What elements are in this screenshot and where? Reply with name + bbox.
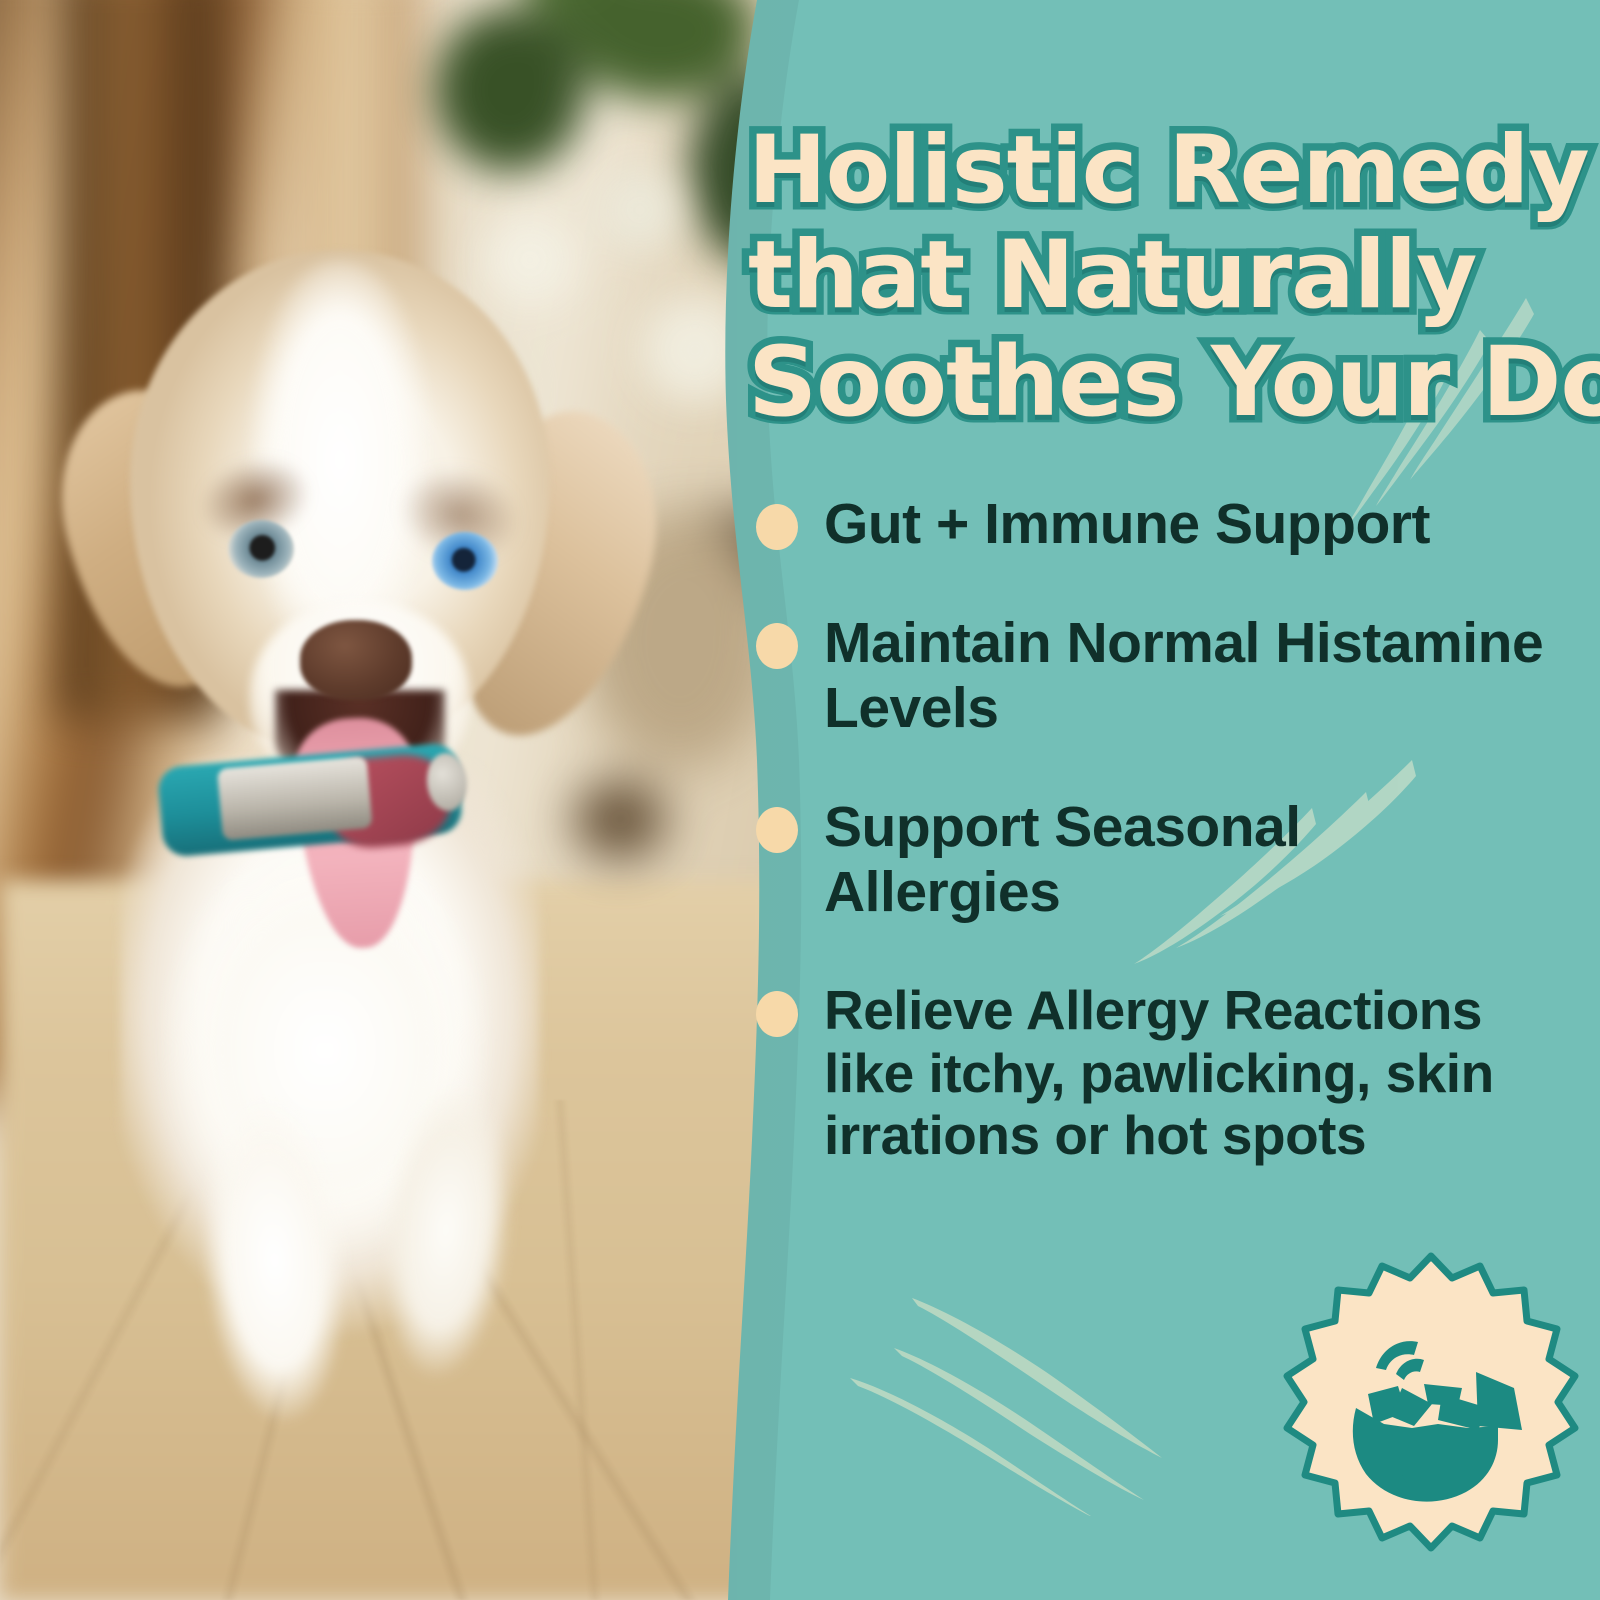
benefit-label: Gut + Immune Support [824,492,1430,557]
bullet-dot-icon [756,504,798,550]
benefit-label: Support Seasonal Allergies [824,795,1546,925]
benefit-item: Maintain Normal Histamine Levels [756,611,1546,741]
benefit-item: Gut + Immune Support [756,492,1546,557]
headline: Holistic Remedy that Naturally Soothes Y… [748,118,1598,436]
puppy-nose [300,620,412,700]
bullet-dot-icon [756,807,798,853]
benefits-list: Gut + Immune Support Maintain Normal His… [756,492,1546,1167]
headline-line-1: Holistic Remedy [748,118,1598,223]
puppy-left-eye [228,520,294,578]
bullet-dot-icon [756,623,798,669]
benefit-item: Relieve Allergy Reactions like itchy, pa… [756,979,1546,1167]
headline-line-2: that Naturally [748,223,1598,328]
puppy-front-left-leg [189,1095,362,1435]
benefit-item: Support Seasonal Allergies [756,795,1546,925]
puppy-right-eye [432,532,498,590]
puppy-front-right-leg [367,1075,528,1386]
benefit-label: Relieve Allergy Reactions like itchy, pa… [824,979,1546,1167]
bullet-dot-icon [756,991,798,1037]
benefit-label: Maintain Normal Histamine Levels [824,611,1546,741]
headline-line-3: Soothes Your Dog [748,329,1598,437]
promo-graphic: Holistic Remedy that Naturally Soothes Y… [0,0,1600,1600]
puppy [0,0,780,1600]
puppy-head [60,220,640,840]
relaxed-dog-badge [1272,1248,1590,1566]
collar-buckle [217,756,373,841]
